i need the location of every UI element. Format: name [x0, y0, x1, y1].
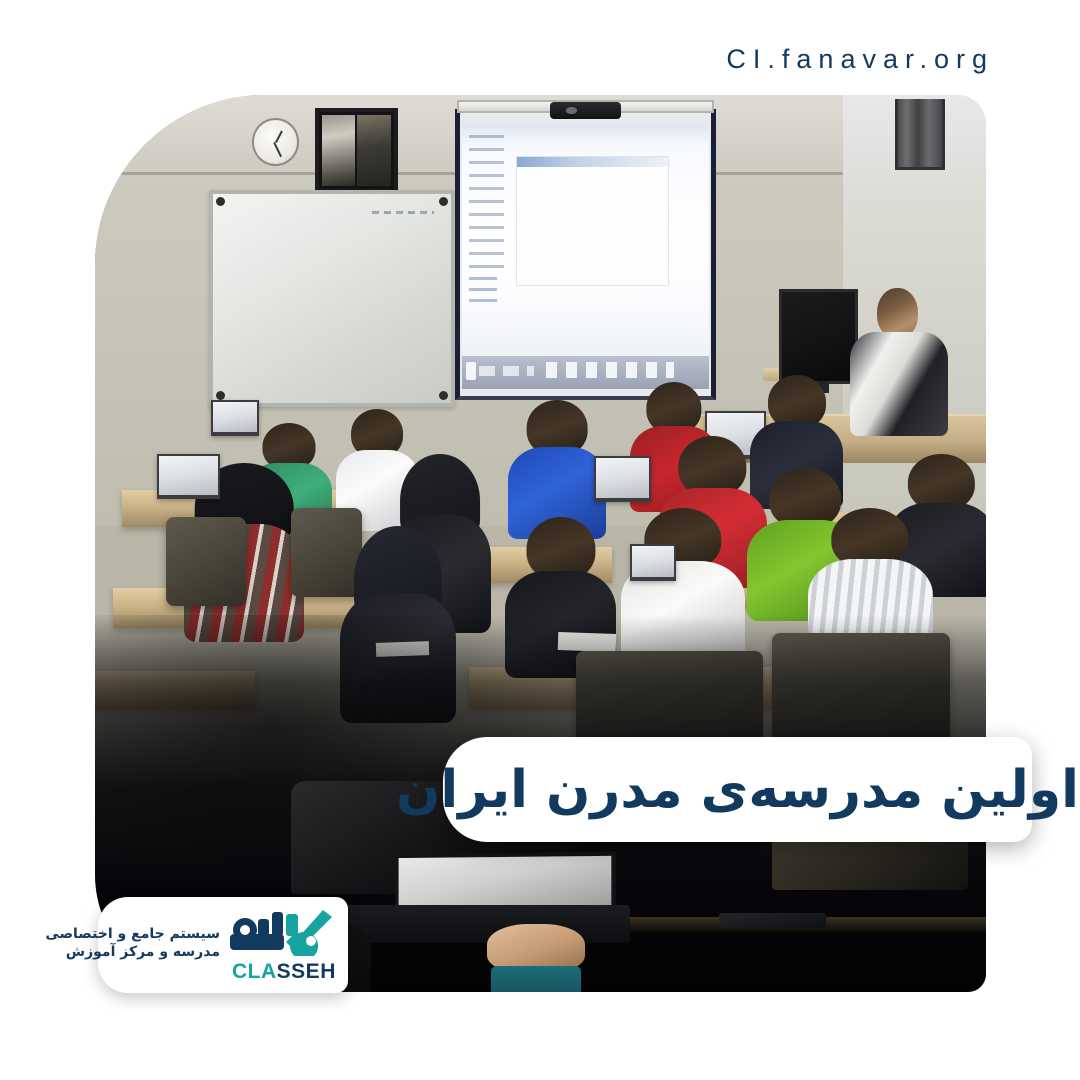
- tagline-line-1: سیستم جامع و اختصاصی: [45, 925, 220, 943]
- chair: [166, 517, 246, 607]
- foreground-phone: [719, 913, 826, 928]
- caption-banner: اولین مدرسه‌ی مدرن ایران: [443, 737, 1032, 842]
- whiteboard-writing: [372, 211, 434, 214]
- whiteboard-pin: [216, 391, 225, 400]
- portrait-right: [322, 115, 355, 186]
- whiteboard-pin: [439, 197, 448, 206]
- tagline-line-2: مدرسه و مرکز آموزش: [45, 943, 220, 961]
- instructor: [848, 288, 950, 436]
- brand-logo-badge: CLASSEH سیستم جامع و اختصاصی مدرسه و مرک…: [98, 897, 348, 993]
- framed-portraits: [315, 108, 398, 193]
- taskbar-label: [479, 366, 533, 377]
- desktop-monitor: [779, 289, 857, 384]
- projected-sidebar-text: [469, 135, 504, 270]
- poster-canvas: CI.fanavar.org: [0, 0, 1080, 1080]
- classeh-logo-mark: CLASSEH: [228, 908, 336, 982]
- laptop: [630, 544, 676, 582]
- caption-headline: اولین مدرسه‌ی مدرن ایران: [396, 764, 1079, 816]
- projected-sidebar-text-2: [469, 277, 496, 310]
- logo-wordmark-part1: CLA: [232, 960, 277, 983]
- projector-icon: [550, 102, 620, 118]
- classeh-wordmark: CLASSEH: [232, 961, 336, 982]
- photo-content: [95, 95, 986, 992]
- window-icon: [895, 99, 945, 171]
- classroom-photo: [95, 95, 986, 992]
- projected-desktop: [462, 124, 709, 356]
- projection-screen: [455, 109, 716, 400]
- start-button-icon: [466, 362, 476, 379]
- foreground-laptop-keyboard: [344, 905, 629, 943]
- whiteboard-pin: [216, 197, 225, 206]
- classeh-persian-logo-icon: [228, 908, 336, 956]
- wall-clock-icon: [252, 118, 299, 166]
- brand-tagline: سیستم جامع و اختصاصی مدرسه و مرکز آموزش: [45, 925, 220, 966]
- portrait-left: [357, 115, 390, 186]
- whiteboard: [209, 190, 455, 407]
- whiteboard-pin: [439, 391, 448, 400]
- laptop: [594, 456, 651, 503]
- instructor-body: [850, 332, 948, 436]
- taskbar-icons: [546, 362, 674, 378]
- logo-wordmark-part2: SSEH: [277, 960, 336, 983]
- sleeve: [491, 966, 580, 992]
- website-url: CI.fanavar.org: [726, 44, 994, 75]
- laptop: [157, 454, 219, 499]
- projected-app-window: [516, 156, 669, 286]
- instructor-head: [877, 288, 918, 338]
